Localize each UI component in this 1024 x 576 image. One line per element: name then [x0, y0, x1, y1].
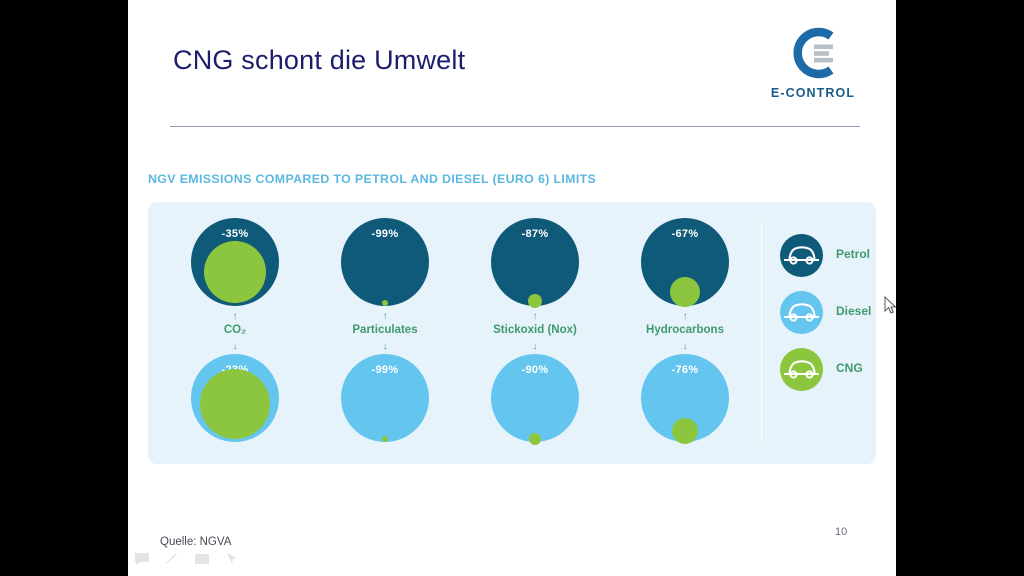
- cng-inner-circle: [200, 369, 270, 439]
- letterbox-bar-left: [0, 0, 128, 576]
- page-number: 10: [835, 526, 847, 538]
- chart-label-co2: CO₂: [160, 324, 310, 336]
- car-icon: [780, 234, 823, 277]
- legend-item-diesel: Diesel: [780, 291, 876, 348]
- econtrol-logo-mark: [781, 26, 845, 80]
- econtrol-logo-text: E-CONTROL: [748, 86, 878, 100]
- diesel-bubble-co2: -23%: [191, 354, 279, 442]
- car-icon: [780, 348, 823, 391]
- chart-column-hydrocarbons: -67% ↑ Hydrocarbons ↓ -76%: [610, 202, 760, 464]
- pen-icon[interactable]: [164, 552, 180, 566]
- diesel-value-particulates: -99%: [341, 364, 429, 376]
- petrol-value-stickoxid: -87%: [491, 228, 579, 240]
- diesel-bubble-stickoxid: -90%: [491, 354, 579, 442]
- chart-column-co2: -35% ↑ CO₂ ↓ -23%: [160, 202, 310, 464]
- petrol-value-hydrocarbons: -67%: [641, 228, 729, 240]
- arrow-up-icon: ↑: [160, 312, 310, 322]
- title-divider: [170, 126, 860, 127]
- diesel-bubble-particulates: -99%: [341, 354, 429, 442]
- chart-label-particulates: Particulates: [310, 324, 460, 336]
- petrol-value-co2: -35%: [191, 228, 279, 240]
- cng-inner-circle: [204, 241, 266, 303]
- comment-icon[interactable]: [134, 552, 150, 566]
- petrol-bubble-particulates: -99%: [341, 218, 429, 306]
- cng-inner-circle: [670, 277, 700, 307]
- legend-item-cng: CNG: [780, 348, 876, 405]
- source-note: Quelle: NGVA: [160, 536, 231, 548]
- petrol-bubble-co2: -35%: [191, 218, 279, 306]
- econtrol-logo: E-CONTROL: [748, 26, 878, 111]
- arrow-down-icon: ↓: [310, 342, 460, 352]
- presentation-slide: CNG schont die Umwelt E-CONTROL NGV EMIS…: [128, 0, 896, 576]
- car-icon: [780, 291, 823, 334]
- cng-inner-circle: [529, 433, 541, 445]
- annotation-toolbar[interactable]: [134, 552, 240, 566]
- diesel-value-stickoxid: -90%: [491, 364, 579, 376]
- pointer-icon[interactable]: [224, 552, 240, 566]
- arrow-up-icon: ↑: [310, 312, 460, 322]
- diesel-bubble-hydrocarbons: -76%: [641, 354, 729, 442]
- note-icon[interactable]: [194, 552, 210, 566]
- legend-item-petrol: Petrol: [780, 234, 876, 291]
- cng-inner-circle: [672, 418, 698, 444]
- mouse-cursor: [884, 296, 898, 321]
- legend-label-cng: CNG: [836, 361, 863, 375]
- legend-label-petrol: Petrol: [836, 247, 870, 261]
- logo-c-arc-icon: [781, 26, 845, 80]
- petrol-bubble-stickoxid: -87%: [491, 218, 579, 306]
- petrol-value-particulates: -99%: [341, 228, 429, 240]
- chart-label-hydrocarbons: Hydrocarbons: [610, 324, 760, 336]
- arrow-down-icon: ↓: [160, 342, 310, 352]
- legend-divider: [761, 222, 762, 442]
- chart-column-particulates: -99% ↑ Particulates ↓ -99%: [310, 202, 460, 464]
- page-title: CNG schont die Umwelt: [173, 45, 465, 76]
- video-player-stage: CNG schont die Umwelt E-CONTROL NGV EMIS…: [0, 0, 1024, 576]
- letterbox-bar-right: [896, 0, 1024, 576]
- arrow-down-icon: ↓: [610, 342, 760, 352]
- cng-inner-circle: [528, 294, 542, 308]
- cng-inner-circle: [382, 436, 388, 442]
- chart-label-stickoxid: Stickoxid (Nox): [460, 324, 610, 336]
- cng-inner-circle: [382, 300, 388, 306]
- diesel-value-hydrocarbons: -76%: [641, 364, 729, 376]
- arrow-up-icon: ↑: [460, 312, 610, 322]
- chart-legend: Petrol Diesel: [780, 234, 876, 405]
- chart-column-stickoxid: -87% ↑ Stickoxid (Nox) ↓ -90%: [460, 202, 610, 464]
- emissions-chart-panel: -35% ↑ CO₂ ↓ -23% -99% ↑ Particulates: [148, 202, 876, 464]
- legend-label-diesel: Diesel: [836, 304, 871, 318]
- arrow-down-icon: ↓: [460, 342, 610, 352]
- arrow-up-icon: ↑: [610, 312, 760, 322]
- petrol-bubble-hydrocarbons: -67%: [641, 218, 729, 306]
- section-title: NGV EMISSIONS COMPARED TO PETROL AND DIE…: [148, 172, 596, 186]
